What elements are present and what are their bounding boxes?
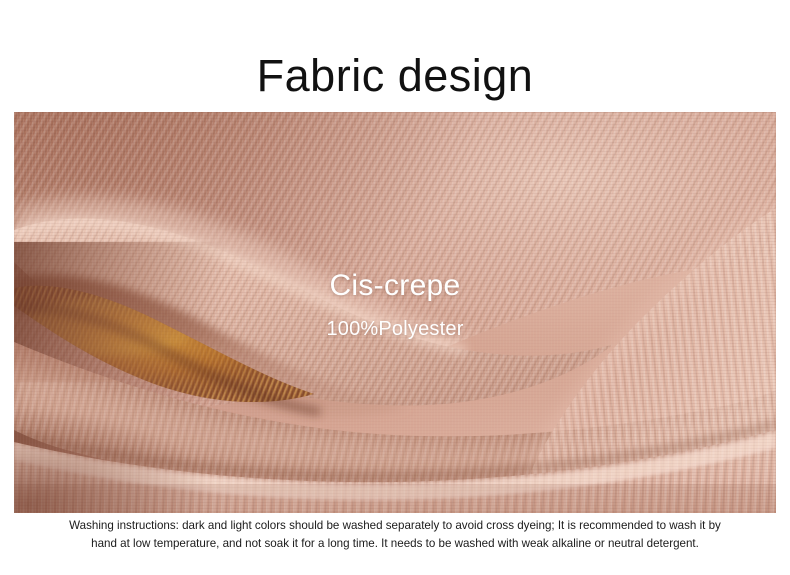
fabric-composition-overlay: 100%Polyester	[14, 317, 776, 341]
fabric-design-page: Fabric design	[0, 0, 790, 575]
washing-instructions-line-1: Washing instructions: dark and light col…	[20, 517, 770, 535]
washing-instructions-line-2: hand at low temperature, and not soak it…	[20, 535, 770, 553]
fabric-name-overlay: Cis-crepe	[14, 269, 776, 303]
washing-instructions: Washing instructions: dark and light col…	[20, 517, 770, 553]
fabric-illustration	[14, 112, 776, 513]
page-title: Fabric design	[0, 48, 790, 104]
fabric-photo: Cis-crepe 100%Polyester	[14, 112, 776, 513]
